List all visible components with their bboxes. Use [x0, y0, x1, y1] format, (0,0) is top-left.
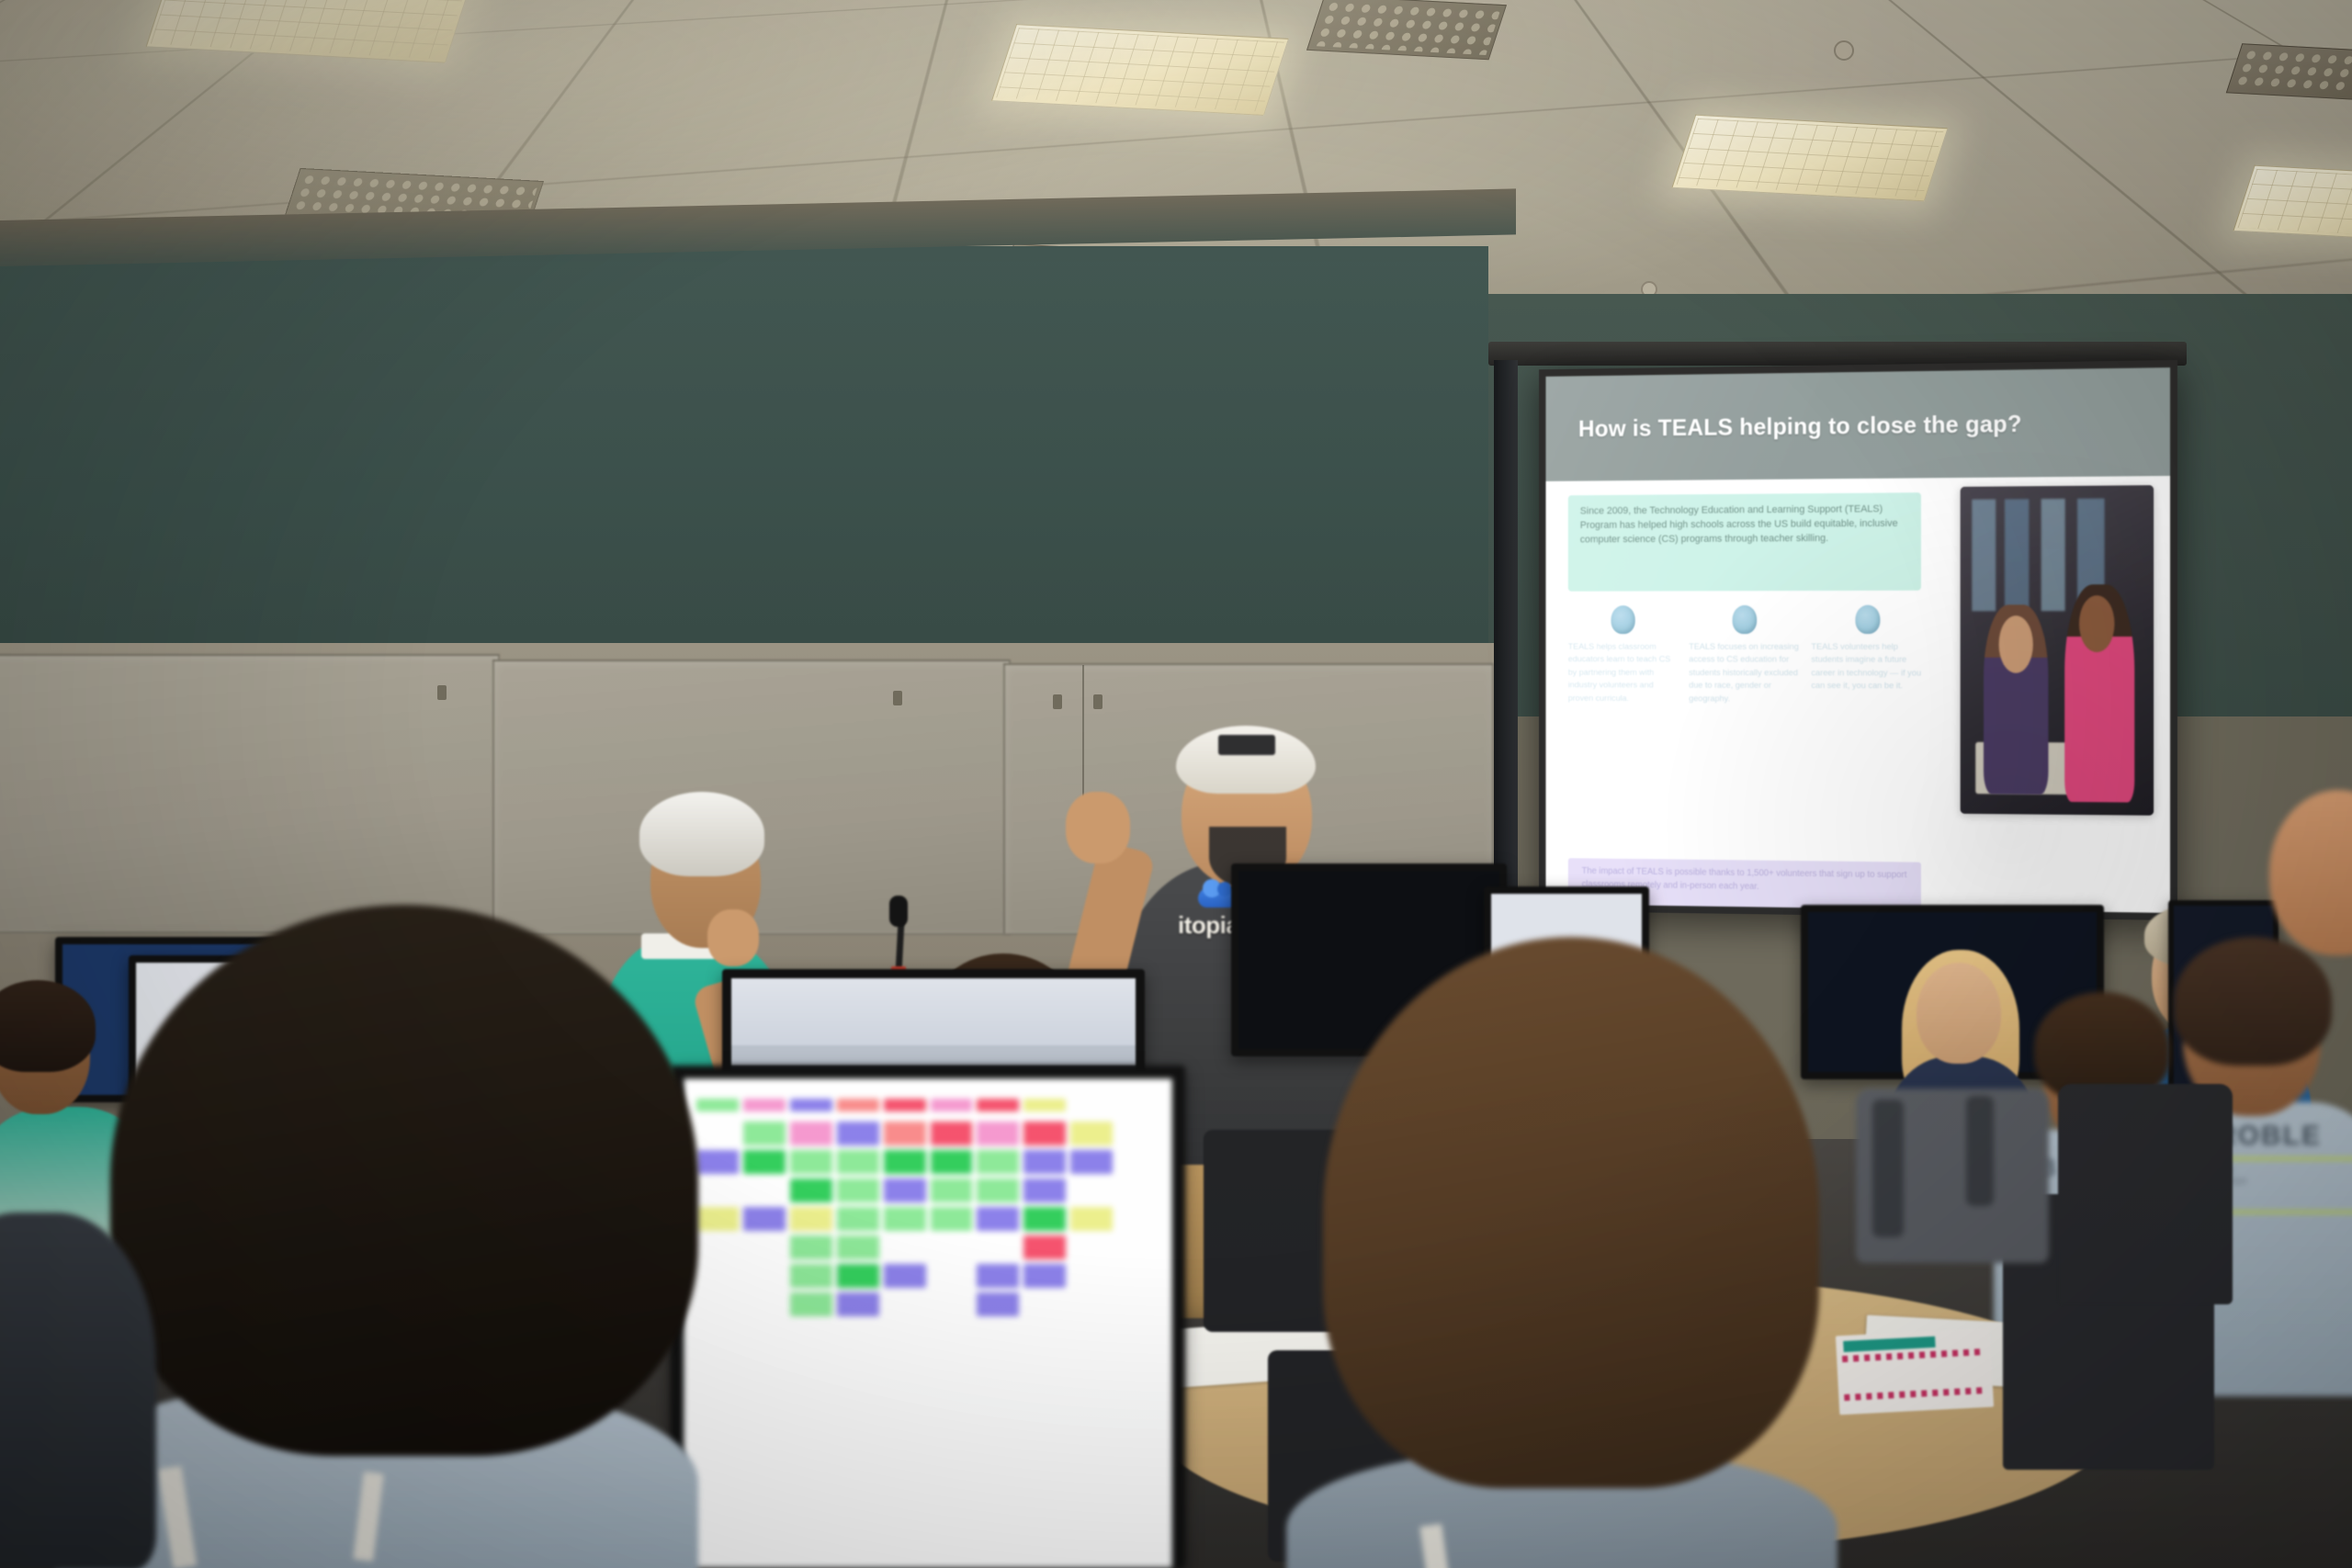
grid-cell[interactable]	[837, 1179, 879, 1202]
grid-cell[interactable]	[1070, 1122, 1113, 1145]
grid-cell-empty[interactable]	[1023, 1292, 1066, 1316]
slide-column-text: TEALS focuses on increasing access to CS…	[1689, 641, 1801, 706]
notebook-spiral	[1844, 1387, 1982, 1401]
slide-column: TEALS helps classroom educators learn to…	[1568, 605, 1679, 705]
slide-column: TEALS focuses on increasing access to CS…	[1689, 605, 1801, 706]
grid-cell[interactable]	[977, 1179, 1019, 1202]
student-foreground-left	[55, 905, 753, 1568]
projector-screen-edge	[1494, 360, 1518, 930]
grid-cell[interactable]	[1023, 1179, 1066, 1202]
grid-cell[interactable]	[884, 1122, 926, 1145]
grid-cell[interactable]	[931, 1122, 973, 1145]
upper-wall	[0, 246, 1488, 669]
grid-cell[interactable]	[931, 1179, 973, 1202]
whiteboard-clip	[893, 691, 902, 705]
grid-cell-empty[interactable]	[931, 1235, 973, 1259]
grid-cell[interactable]	[837, 1122, 879, 1145]
attendee-head	[1917, 963, 2001, 1064]
person-circle-icon	[1611, 605, 1634, 634]
grid-cell[interactable]	[1023, 1150, 1066, 1174]
slide-photo-student	[1984, 604, 2049, 795]
legend-swatch-empty	[1070, 1093, 1113, 1117]
whiteboard-clip	[437, 685, 447, 700]
color-coded-spreadsheet	[684, 1078, 1172, 1568]
grid-cell[interactable]	[790, 1122, 832, 1145]
grid-cell[interactable]	[884, 1207, 926, 1231]
legend-swatch[interactable]	[884, 1099, 926, 1111]
grid-cell[interactable]	[790, 1207, 832, 1231]
notebook-band	[1843, 1337, 1935, 1352]
grid-cell-empty[interactable]	[931, 1292, 973, 1316]
slide-photo-student	[2064, 584, 2134, 802]
grid-cell-empty[interactable]	[977, 1235, 1019, 1259]
cap-strap	[1218, 735, 1275, 755]
globe-circle-icon	[1855, 605, 1880, 635]
grid-cell[interactable]	[977, 1292, 1019, 1316]
legend-swatch-empty	[1117, 1093, 1159, 1117]
office-chair-back	[2058, 1084, 2233, 1304]
student-foreground-right	[1286, 937, 1856, 1568]
slide-intro-text: Since 2009, the Technology Education and…	[1580, 502, 1909, 547]
legend-swatch[interactable]	[977, 1099, 1019, 1111]
slide-column-text: TEALS volunteers help students imagine a…	[1811, 641, 1924, 694]
white-hair	[639, 792, 764, 876]
grid-cell-empty[interactable]	[1070, 1179, 1113, 1202]
grid-cell[interactable]	[1023, 1122, 1066, 1145]
presentation-slide: How is TEALS helping to close the gap? S…	[1545, 367, 2170, 913]
legend-swatch[interactable]	[790, 1099, 832, 1111]
whiteboard	[0, 654, 500, 933]
slide-column: TEALS volunteers help students imagine a…	[1811, 605, 1924, 706]
microphone-icon	[889, 896, 908, 927]
people-circle-icon	[1733, 605, 1758, 634]
browser-tabbar[interactable]	[731, 1045, 1136, 1066]
grid-cell[interactable]	[931, 1150, 973, 1174]
grid-cell-empty[interactable]	[884, 1292, 926, 1316]
grid-cell-empty[interactable]	[884, 1235, 926, 1259]
grid-cell[interactable]	[977, 1207, 1019, 1231]
spreadsheet-grid[interactable]	[684, 1078, 1172, 1568]
grid-cell[interactable]	[790, 1292, 832, 1316]
grid-cell[interactable]	[931, 1207, 973, 1231]
grid-cell-empty[interactable]	[1070, 1264, 1113, 1288]
backpack-strap	[1872, 1100, 1904, 1237]
grid-cell[interactable]	[837, 1207, 879, 1231]
presenter-hand	[1066, 792, 1130, 863]
grid-cell-empty[interactable]	[1070, 1292, 1113, 1316]
grid-cell[interactable]	[1070, 1150, 1113, 1174]
slide-column-text: TEALS helps classroom educators learn to…	[1568, 641, 1679, 705]
grid-cell[interactable]	[790, 1150, 832, 1174]
grid-cell[interactable]	[837, 1264, 879, 1288]
shirt-logo-text: itopia	[1178, 911, 1238, 940]
photo-scene: How is TEALS helping to close the gap? S…	[0, 0, 2352, 1568]
grid-cell[interactable]	[977, 1264, 1019, 1288]
attendee-foreground-far-left	[0, 1157, 156, 1568]
grid-cell[interactable]	[790, 1264, 832, 1288]
attendee-foreground-far-right	[2269, 790, 2352, 1084]
projector-screen: How is TEALS helping to close the gap? S…	[1539, 360, 2177, 920]
slide-intro-box: Since 2009, the Technology Education and…	[1568, 492, 1921, 592]
attendee-head	[2269, 790, 2352, 955]
grid-cell[interactable]	[837, 1235, 879, 1259]
backpack	[1856, 1089, 2049, 1263]
grid-cell[interactable]	[1023, 1207, 1066, 1231]
grid-cell[interactable]	[790, 1179, 832, 1202]
slide-body: Since 2009, the Technology Education and…	[1545, 476, 2170, 913]
grid-cell[interactable]	[790, 1235, 832, 1259]
grid-cell[interactable]	[884, 1150, 926, 1174]
slide-title: How is TEALS helping to close the gap?	[1578, 410, 2022, 443]
grid-cell[interactable]	[1070, 1207, 1113, 1231]
grid-cell[interactable]	[837, 1150, 879, 1174]
grid-cell[interactable]	[837, 1292, 879, 1316]
black-hair	[110, 905, 698, 1456]
grid-cell-empty[interactable]	[1117, 1179, 1159, 1202]
grid-cell[interactable]	[977, 1122, 1019, 1145]
legend-swatch[interactable]	[837, 1099, 879, 1111]
grid-cell-empty[interactable]	[931, 1264, 973, 1288]
grid-cell[interactable]	[884, 1179, 926, 1202]
slide-header: How is TEALS helping to close the gap?	[1545, 367, 2170, 481]
grid-cell[interactable]	[1023, 1264, 1066, 1288]
grid-cell-empty[interactable]	[1117, 1292, 1159, 1316]
brown-hair	[1323, 937, 1819, 1488]
grid-cell-empty[interactable]	[1070, 1235, 1113, 1259]
grid-cell[interactable]	[977, 1150, 1019, 1174]
grid-cell-empty[interactable]	[1117, 1150, 1159, 1174]
grid-cell-empty[interactable]	[1117, 1264, 1159, 1288]
attendee-torso	[0, 1213, 156, 1568]
grid-cell-empty[interactable]	[1117, 1235, 1159, 1259]
slide-columns: TEALS helps classroom educators learn to…	[1568, 605, 1927, 706]
grid-cell[interactable]	[884, 1264, 926, 1288]
browser-chrome[interactable]	[731, 978, 1136, 1045]
legend-swatch[interactable]	[1023, 1099, 1066, 1111]
spiral-notebook	[1836, 1328, 1994, 1416]
legend-swatch[interactable]	[931, 1099, 973, 1111]
grid-cell[interactable]	[1023, 1235, 1066, 1259]
slide-photo	[1961, 485, 2154, 816]
backpack-strap	[1966, 1096, 1994, 1206]
grid-cell-empty[interactable]	[1117, 1122, 1159, 1145]
grid-cell-empty[interactable]	[1117, 1207, 1159, 1231]
whiteboard-clip	[1053, 694, 1062, 709]
